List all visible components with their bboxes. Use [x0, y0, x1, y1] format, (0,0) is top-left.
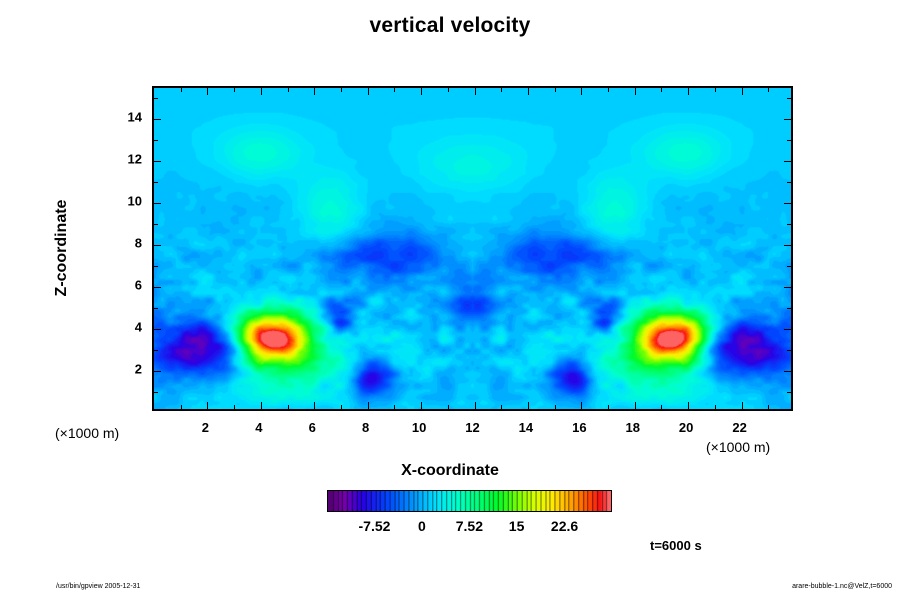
x-tick-top: [368, 88, 369, 95]
x-tick: [181, 405, 182, 409]
x-tick-top: [394, 88, 395, 92]
y-tick-label: 6: [112, 278, 142, 293]
y-tick-label: 12: [112, 152, 142, 167]
y-tick-right: [784, 161, 791, 162]
x-tick-top: [635, 88, 636, 95]
x-tick: [261, 402, 262, 409]
y-tick: [154, 350, 158, 351]
y-tick-right: [787, 392, 791, 393]
x-tick: [341, 405, 342, 409]
y-tick-right: [784, 329, 791, 330]
x-tick: [528, 402, 529, 409]
y-tick-right: [784, 119, 791, 120]
x-axis-title: X-coordinate: [0, 462, 900, 480]
x-tick-label: 22: [732, 420, 746, 435]
x-tick: [421, 402, 422, 409]
y-tick-label: 8: [112, 236, 142, 251]
y-axis-title: Z-coordinate: [53, 200, 71, 297]
x-tick-top: [341, 88, 342, 92]
y-tick: [154, 371, 161, 372]
page-title: vertical velocity: [0, 14, 900, 38]
x-tick: [207, 402, 208, 409]
x-tick: [742, 402, 743, 409]
x-tick-top: [528, 88, 529, 95]
y-tick-right: [784, 203, 791, 204]
y-tick: [154, 245, 161, 246]
x-tick: [394, 405, 395, 409]
x-tick-top: [661, 88, 662, 92]
footer-right: arare-bubble-1.nc@VelZ,t=6000: [792, 583, 892, 590]
x-tick-label: 16: [572, 420, 586, 435]
x-tick-label: 2: [202, 420, 209, 435]
x-tick-label: 14: [519, 420, 533, 435]
y-tick: [154, 203, 161, 204]
time-label: t=6000 s: [650, 538, 702, 553]
x-tick-top: [207, 88, 208, 95]
y-tick-right: [784, 287, 791, 288]
y-tick: [154, 287, 161, 288]
colorbar-tick-label: 22.6: [551, 518, 578, 534]
y-tick-right: [787, 182, 791, 183]
y-tick-right: [787, 266, 791, 267]
x-tick: [234, 405, 235, 409]
y-axis-unit-label: (×1000 m): [55, 425, 119, 441]
y-tick: [154, 119, 161, 120]
y-tick: [154, 98, 158, 99]
x-tick-label: 20: [679, 420, 693, 435]
plot-area: [152, 86, 793, 411]
x-tick: [635, 402, 636, 409]
y-tick-label: 4: [112, 320, 142, 335]
x-tick: [314, 402, 315, 409]
y-tick: [154, 329, 161, 330]
colorbar-tick-label: 15: [509, 518, 525, 534]
y-tick: [154, 140, 158, 141]
x-axis-unit-label: (×1000 m): [706, 439, 770, 455]
x-tick: [581, 402, 582, 409]
x-tick-top: [421, 88, 422, 95]
x-tick: [501, 405, 502, 409]
x-tick-top: [501, 88, 502, 92]
colorbar-tick-label: 0: [418, 518, 426, 534]
y-tick: [154, 392, 158, 393]
x-tick-top: [608, 88, 609, 92]
y-tick-right: [787, 308, 791, 309]
x-tick-label: 12: [465, 420, 479, 435]
y-tick: [154, 182, 158, 183]
x-tick-label: 18: [626, 420, 640, 435]
x-tick-top: [448, 88, 449, 92]
y-tick: [154, 224, 158, 225]
y-tick-right: [787, 350, 791, 351]
x-tick-top: [314, 88, 315, 95]
x-tick-top: [715, 88, 716, 92]
x-tick-top: [555, 88, 556, 92]
x-tick: [475, 402, 476, 409]
x-tick-label: 8: [362, 420, 369, 435]
colorbar-tick-label: 7.52: [456, 518, 483, 534]
y-tick-right: [787, 224, 791, 225]
x-tick: [555, 405, 556, 409]
y-tick: [154, 308, 158, 309]
x-tick-top: [581, 88, 582, 95]
x-tick-top: [288, 88, 289, 92]
y-tick-label: 14: [112, 110, 142, 125]
y-tick-label: 10: [112, 194, 142, 209]
x-tick: [661, 405, 662, 409]
y-tick: [154, 161, 161, 162]
x-tick: [688, 402, 689, 409]
x-tick: [768, 405, 769, 409]
x-tick-top: [688, 88, 689, 95]
colorbar-tick-label: -7.52: [358, 518, 390, 534]
x-tick: [715, 405, 716, 409]
colorbar-gradient: [327, 490, 612, 512]
x-tick-top: [261, 88, 262, 95]
x-tick: [608, 405, 609, 409]
x-tick-top: [181, 88, 182, 92]
y-tick-right: [787, 98, 791, 99]
y-tick-label: 2: [112, 362, 142, 377]
x-tick-top: [234, 88, 235, 92]
y-tick-right: [784, 245, 791, 246]
y-tick-right: [784, 371, 791, 372]
colorbar: [327, 490, 612, 512]
x-tick-top: [475, 88, 476, 95]
x-tick: [368, 402, 369, 409]
x-tick-label: 4: [255, 420, 262, 435]
y-tick-right: [787, 140, 791, 141]
x-tick-label: 10: [412, 420, 426, 435]
velocity-heatmap: [154, 88, 791, 409]
footer-left: /usr/bin/gpview 2005-12-31: [56, 583, 140, 590]
x-tick-top: [768, 88, 769, 92]
x-tick: [288, 405, 289, 409]
x-tick: [448, 405, 449, 409]
x-tick-label: 6: [309, 420, 316, 435]
x-tick-top: [742, 88, 743, 95]
y-tick: [154, 266, 158, 267]
